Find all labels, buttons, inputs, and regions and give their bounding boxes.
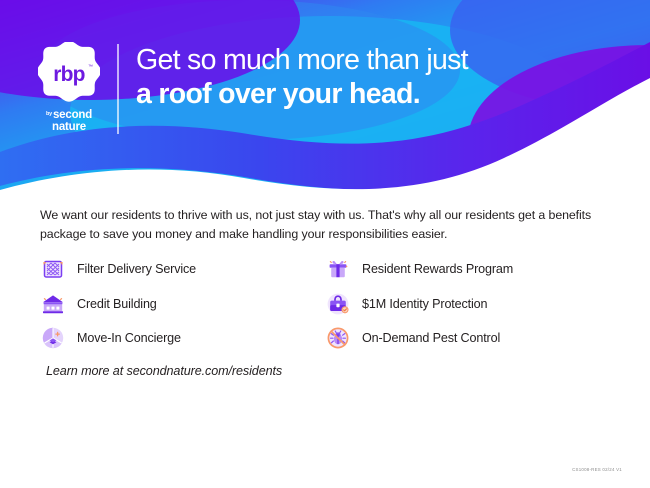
rbp-logo: rbp ™ bysecond nature [33, 42, 105, 134]
benefit-label: On-Demand Pest Control [362, 331, 500, 345]
benefit-label: Credit Building [77, 297, 157, 311]
headline-line-2: a roof over your head. [136, 78, 468, 112]
hero-headline: Get so much more than just a roof over y… [136, 44, 468, 111]
logo-nature-text: nature [33, 122, 105, 133]
benefit-item-resident-rewards-program: Resident Rewards Program [325, 252, 610, 287]
document-code: CS1008-RES 02/24 V1 [572, 467, 622, 472]
filter-icon [40, 256, 66, 282]
benefit-item-credit-building: Credit Building [40, 287, 325, 322]
logo-by-text: by [46, 111, 52, 117]
logo-second-text: second [53, 109, 92, 121]
benefit-item-pest-control: On-Demand Pest Control [325, 321, 610, 356]
benefit-item-identity-protection: $1M Identity Protection [325, 287, 610, 322]
briefcase-lock-icon [325, 291, 351, 317]
benefit-label: $1M Identity Protection [362, 297, 487, 311]
rbp-logo-mark: rbp ™ [38, 42, 100, 104]
benefits-list: Filter Delivery Service Resident Rewards… [40, 252, 610, 356]
rbp-logo-subtitle: bysecond nature [33, 106, 105, 133]
gift-icon [325, 256, 351, 282]
bank-icon [40, 291, 66, 317]
learn-more-text: Learn more at secondnature.com/residents [46, 364, 282, 378]
headline-line-1: Get so much more than just [136, 44, 468, 78]
benefit-label: Filter Delivery Service [77, 262, 196, 276]
concierge-icon [40, 325, 66, 351]
logo-divider [117, 44, 119, 134]
svg-text:rbp: rbp [53, 63, 84, 86]
pest-icon [325, 325, 351, 351]
rbp-badge-icon: rbp ™ [38, 42, 100, 104]
benefit-item-move-in-concierge: Move-In Concierge [40, 321, 325, 356]
benefit-label: Resident Rewards Program [362, 262, 513, 276]
intro-paragraph: We want our residents to thrive with us,… [40, 206, 600, 244]
benefit-label: Move-In Concierge [77, 331, 181, 345]
svg-text:™: ™ [88, 64, 93, 70]
flyer-page: rbp ™ bysecond nature Get so much more t… [0, 0, 650, 488]
benefit-item-filter-delivery-service: Filter Delivery Service [40, 252, 325, 287]
